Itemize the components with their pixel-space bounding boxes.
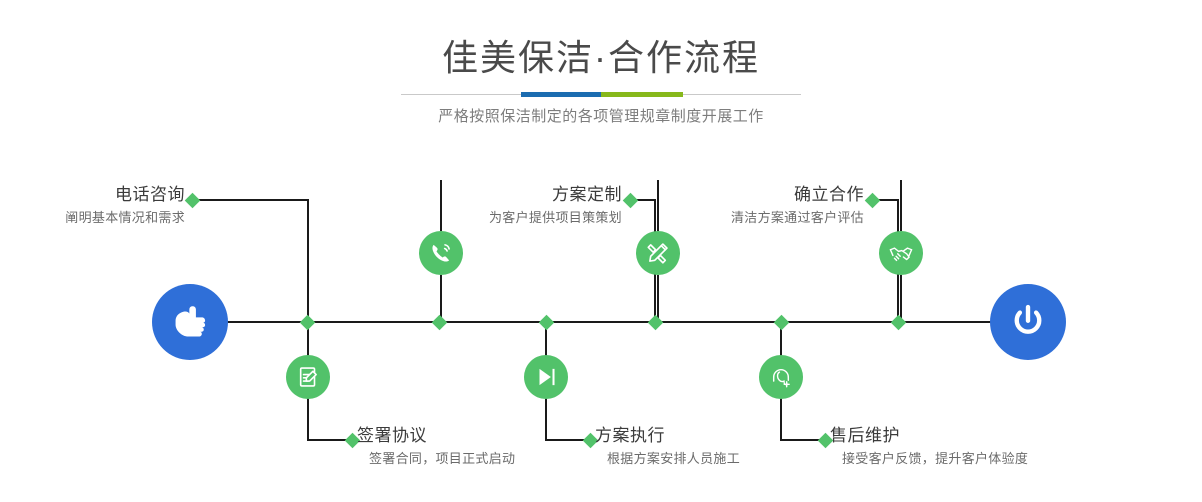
node-marker-2 [432,315,448,331]
step-icon-3 [636,231,680,275]
step-desc-3: 为客户提供项目策策划 [430,207,622,229]
step-icon-6 [759,355,803,399]
page-subtitle: 严格按照保洁制定的各项管理规章制度开展工作 [0,106,1202,128]
process-flow-infographic: 佳美保洁·合作流程 严格按照保洁制定的各项管理规章制度开展工作 [0,0,1202,502]
step-label-3: 方案定制 为客户提供项目策策划 [430,183,622,229]
document-edit-icon [295,364,321,390]
icon-stem-top-3 [657,180,659,231]
icon-stem-bottom-3 [657,275,659,322]
step-title-1: 电话咨询 [0,183,185,207]
connector-horizontal-1 [192,199,308,201]
handshake-icon [888,240,914,266]
step-desc-5: 清洁方案通过客户评估 [668,207,864,229]
step-title-5: 确立合作 [668,183,864,207]
node-marker-3b [648,315,664,331]
play-execute-icon [533,364,559,390]
label-marker-5 [865,193,881,209]
label-marker-1 [185,193,201,209]
step-label-1: 电话咨询 阐明基本情况和需求 [0,183,185,229]
node-marker-5 [774,315,790,331]
step-label-5: 确立合作 清洁方案通过客户评估 [668,183,864,229]
end-endpoint [990,284,1066,360]
divider-segment-green [601,92,683,97]
icon-stem-bottom-5 [900,275,902,322]
step-desc-6: 接受客户反馈，提升客户体验度 [830,448,1028,470]
divider-segment-blue [521,92,601,97]
phone-call-icon [428,240,454,266]
timeline: 电话咨询 阐明基本情况和需求 签署协议 签署合同，项目正式启动 [0,140,1202,502]
pointing-hand-icon [169,301,211,343]
power-icon [1008,302,1048,342]
step-label-2: 签署协议 签署合同，项目正式启动 [357,424,515,470]
step-label-6: 售后维护 接受客户反馈，提升客户体验度 [830,424,1028,470]
step-icon-1 [419,231,463,275]
step-title-6: 售后维护 [830,424,1028,448]
step-icon-5 [879,231,923,275]
step-desc-2: 签署合同，项目正式启动 [357,448,515,470]
start-endpoint [152,284,228,360]
node-marker-5b [891,315,907,331]
pencil-ruler-icon [645,240,671,266]
step-label-4: 方案执行 根据方案安排人员施工 [595,424,740,470]
step-title-2: 签署协议 [357,424,515,448]
node-marker-1 [300,315,316,331]
step-title-4: 方案执行 [595,424,740,448]
page-title: 佳美保洁·合作流程 [0,36,1202,80]
node-marker-3 [539,315,555,331]
title-divider [401,92,801,97]
label-marker-3 [623,193,639,209]
header: 佳美保洁·合作流程 严格按照保洁制定的各项管理规章制度开展工作 [0,0,1202,140]
customer-service-icon [768,364,794,390]
step-title-3: 方案定制 [430,183,622,207]
connector-vertical-1 [307,199,309,322]
step-icon-2 [286,355,330,399]
step-desc-1: 阐明基本情况和需求 [0,207,185,229]
step-icon-4 [524,355,568,399]
step-desc-4: 根据方案安排人员施工 [595,448,740,470]
icon-stem-top-5 [900,180,902,231]
